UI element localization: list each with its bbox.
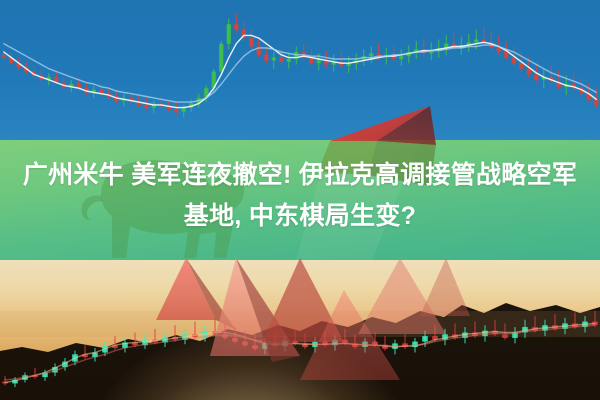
headline-line-2: 基地, 中东棋局生变? — [0, 196, 600, 237]
top-candlestick-svg — [0, 0, 600, 145]
page-title: 广州米牛 美军连夜撤空! 伊拉克高调接管战略空军 基地, 中东棋局生变? — [0, 155, 600, 237]
bottom-candlestick-svg — [0, 255, 600, 400]
bottom-chart-panel — [0, 255, 600, 400]
banner-image: 广州米牛 美军连夜撤空! 伊拉克高调接管战略空军 基地, 中东棋局生变? — [0, 0, 600, 400]
headline-line-1: 广州米牛 美军连夜撤空! 伊拉克高调接管战略空军 — [0, 155, 600, 196]
top-chart-panel — [0, 0, 600, 145]
